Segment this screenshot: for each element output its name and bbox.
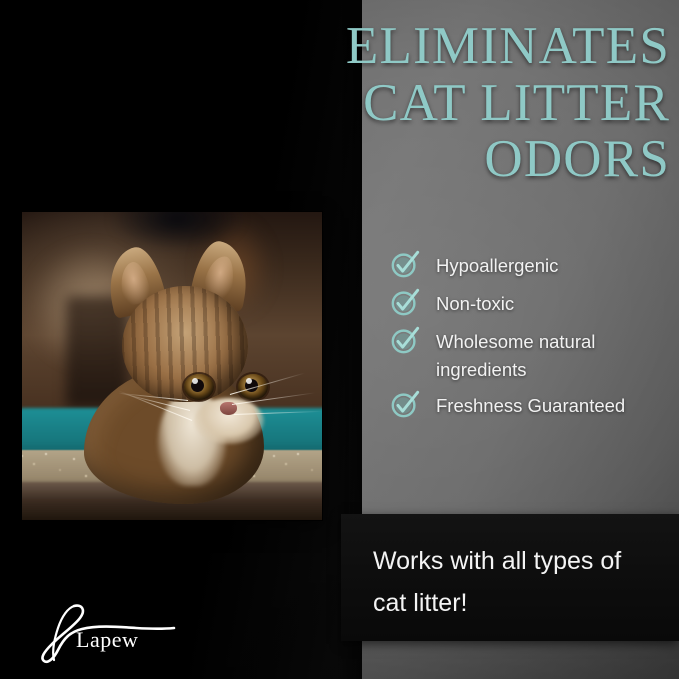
headline-line-3: ODORS <box>110 131 670 188</box>
check-circle-icon <box>390 325 420 355</box>
feature-item: Non-toxic <box>390 290 675 320</box>
check-circle-icon <box>390 249 420 279</box>
check-circle-icon <box>390 389 420 419</box>
headline: ELIMINATES CAT LITTER ODORS <box>110 18 670 188</box>
kitten-head <box>122 286 248 402</box>
feature-list: Hypoallergenic Non-toxic Wholesome n <box>390 252 675 430</box>
brand-name: Lapew <box>76 627 138 653</box>
kitten-figure <box>74 240 284 502</box>
product-ad-banner: ELIMINATES CAT LITTER ODORS <box>0 0 679 679</box>
headline-line-2: CAT LITTER <box>110 75 670 132</box>
check-circle-icon <box>390 287 420 317</box>
kitten-eye-left <box>184 374 214 400</box>
feature-item: Wholesome natural ingredients <box>390 328 675 384</box>
feature-label: Freshness Guaranteed <box>436 392 625 420</box>
kitten-photo <box>22 212 322 520</box>
feature-item: Freshness Guaranteed <box>390 392 675 422</box>
feature-item: Hypoallergenic <box>390 252 675 282</box>
photo-scene <box>22 212 322 520</box>
feature-label: Non-toxic <box>436 290 514 318</box>
feature-label: Wholesome natural ingredients <box>436 328 675 384</box>
brand-logo: Lapew <box>24 598 204 666</box>
callout-text: Works with all types of cat litter! <box>373 540 659 624</box>
headline-line-1: ELIMINATES <box>110 18 670 75</box>
feature-label: Hypoallergenic <box>436 252 558 280</box>
callout-box: Works with all types of cat litter! <box>341 514 679 641</box>
